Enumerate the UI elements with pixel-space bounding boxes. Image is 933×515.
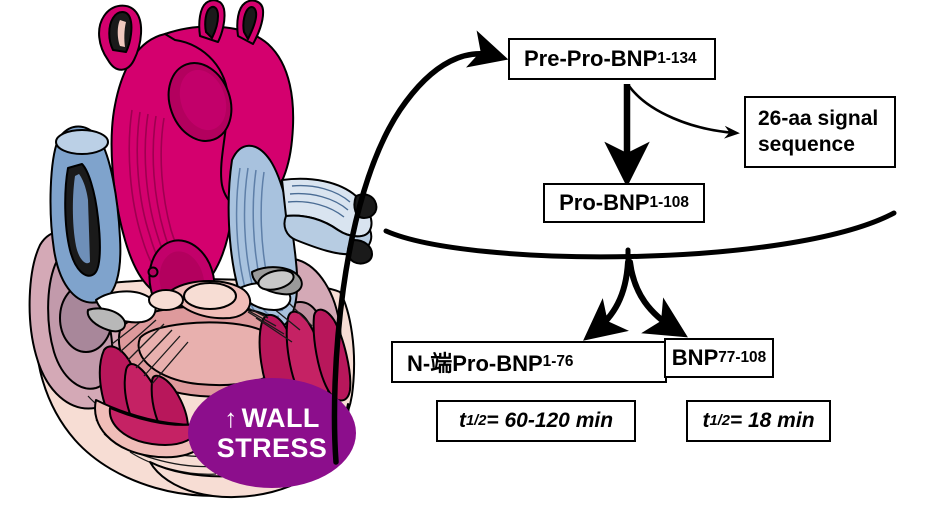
- box-nt-pro-bnp-subscript: 1-76: [543, 353, 574, 371]
- arrow-preprobnp-to-signal-sequence: [629, 86, 736, 133]
- box-bnp-subscript: 77-108: [718, 349, 766, 367]
- half-life-bnp-symbol: t: [702, 409, 709, 433]
- arrow-split-to-bnp: [630, 262, 676, 330]
- box-nt-pro-bnp: N-端Pro-BNP1-76: [391, 341, 667, 383]
- wall-stress-callout: ↑WALL STRESS: [188, 378, 356, 488]
- box-half-life-nt-pro-bnp: t1/2 = 60-120 min: [436, 400, 636, 442]
- box-signal-sequence-line-1: 26-aa signal: [758, 107, 878, 130]
- box-bnp-label: BNP: [672, 345, 718, 371]
- box-nt-pro-bnp-label: N-端Pro-BNP: [407, 346, 543, 378]
- box-signal-sequence-line-2: sequence: [758, 133, 855, 156]
- box-pro-bnp-subscript: 1-108: [650, 194, 689, 212]
- box-pre-pro-bnp: Pre-Pro-BNP1-134: [508, 38, 716, 80]
- box-pro-bnp: Pro-BNP1-108: [543, 183, 705, 223]
- wall-stress-line-1: ↑WALL: [224, 403, 319, 433]
- half-life-bnp-value: = 18 min: [730, 409, 815, 433]
- half-life-bnp-subscript: 1/2: [709, 413, 729, 429]
- figure-canvas: ↑WALL STRESS Pre-Pro-BNP1-134: [0, 0, 933, 515]
- half-life-nt-symbol: t: [459, 409, 466, 433]
- box-signal-sequence: 26-aa signal sequence: [744, 96, 896, 168]
- box-bnp: BNP77-108: [664, 338, 774, 378]
- box-half-life-bnp: t1/2 = 18 min: [686, 400, 831, 442]
- box-pro-bnp-label: Pro-BNP: [559, 190, 649, 216]
- box-pre-pro-bnp-label: Pre-Pro-BNP: [524, 46, 657, 72]
- up-arrow-icon: ↑: [224, 403, 237, 433]
- arrow-split-to-ntprobnp: [594, 262, 628, 332]
- half-life-nt-value: = 60-120 min: [486, 409, 613, 433]
- wall-stress-label-wall: WALL: [242, 403, 320, 433]
- half-life-nt-subscript: 1/2: [466, 413, 486, 429]
- wall-stress-label-stress: STRESS: [217, 433, 327, 463]
- box-pre-pro-bnp-subscript: 1-134: [657, 50, 696, 68]
